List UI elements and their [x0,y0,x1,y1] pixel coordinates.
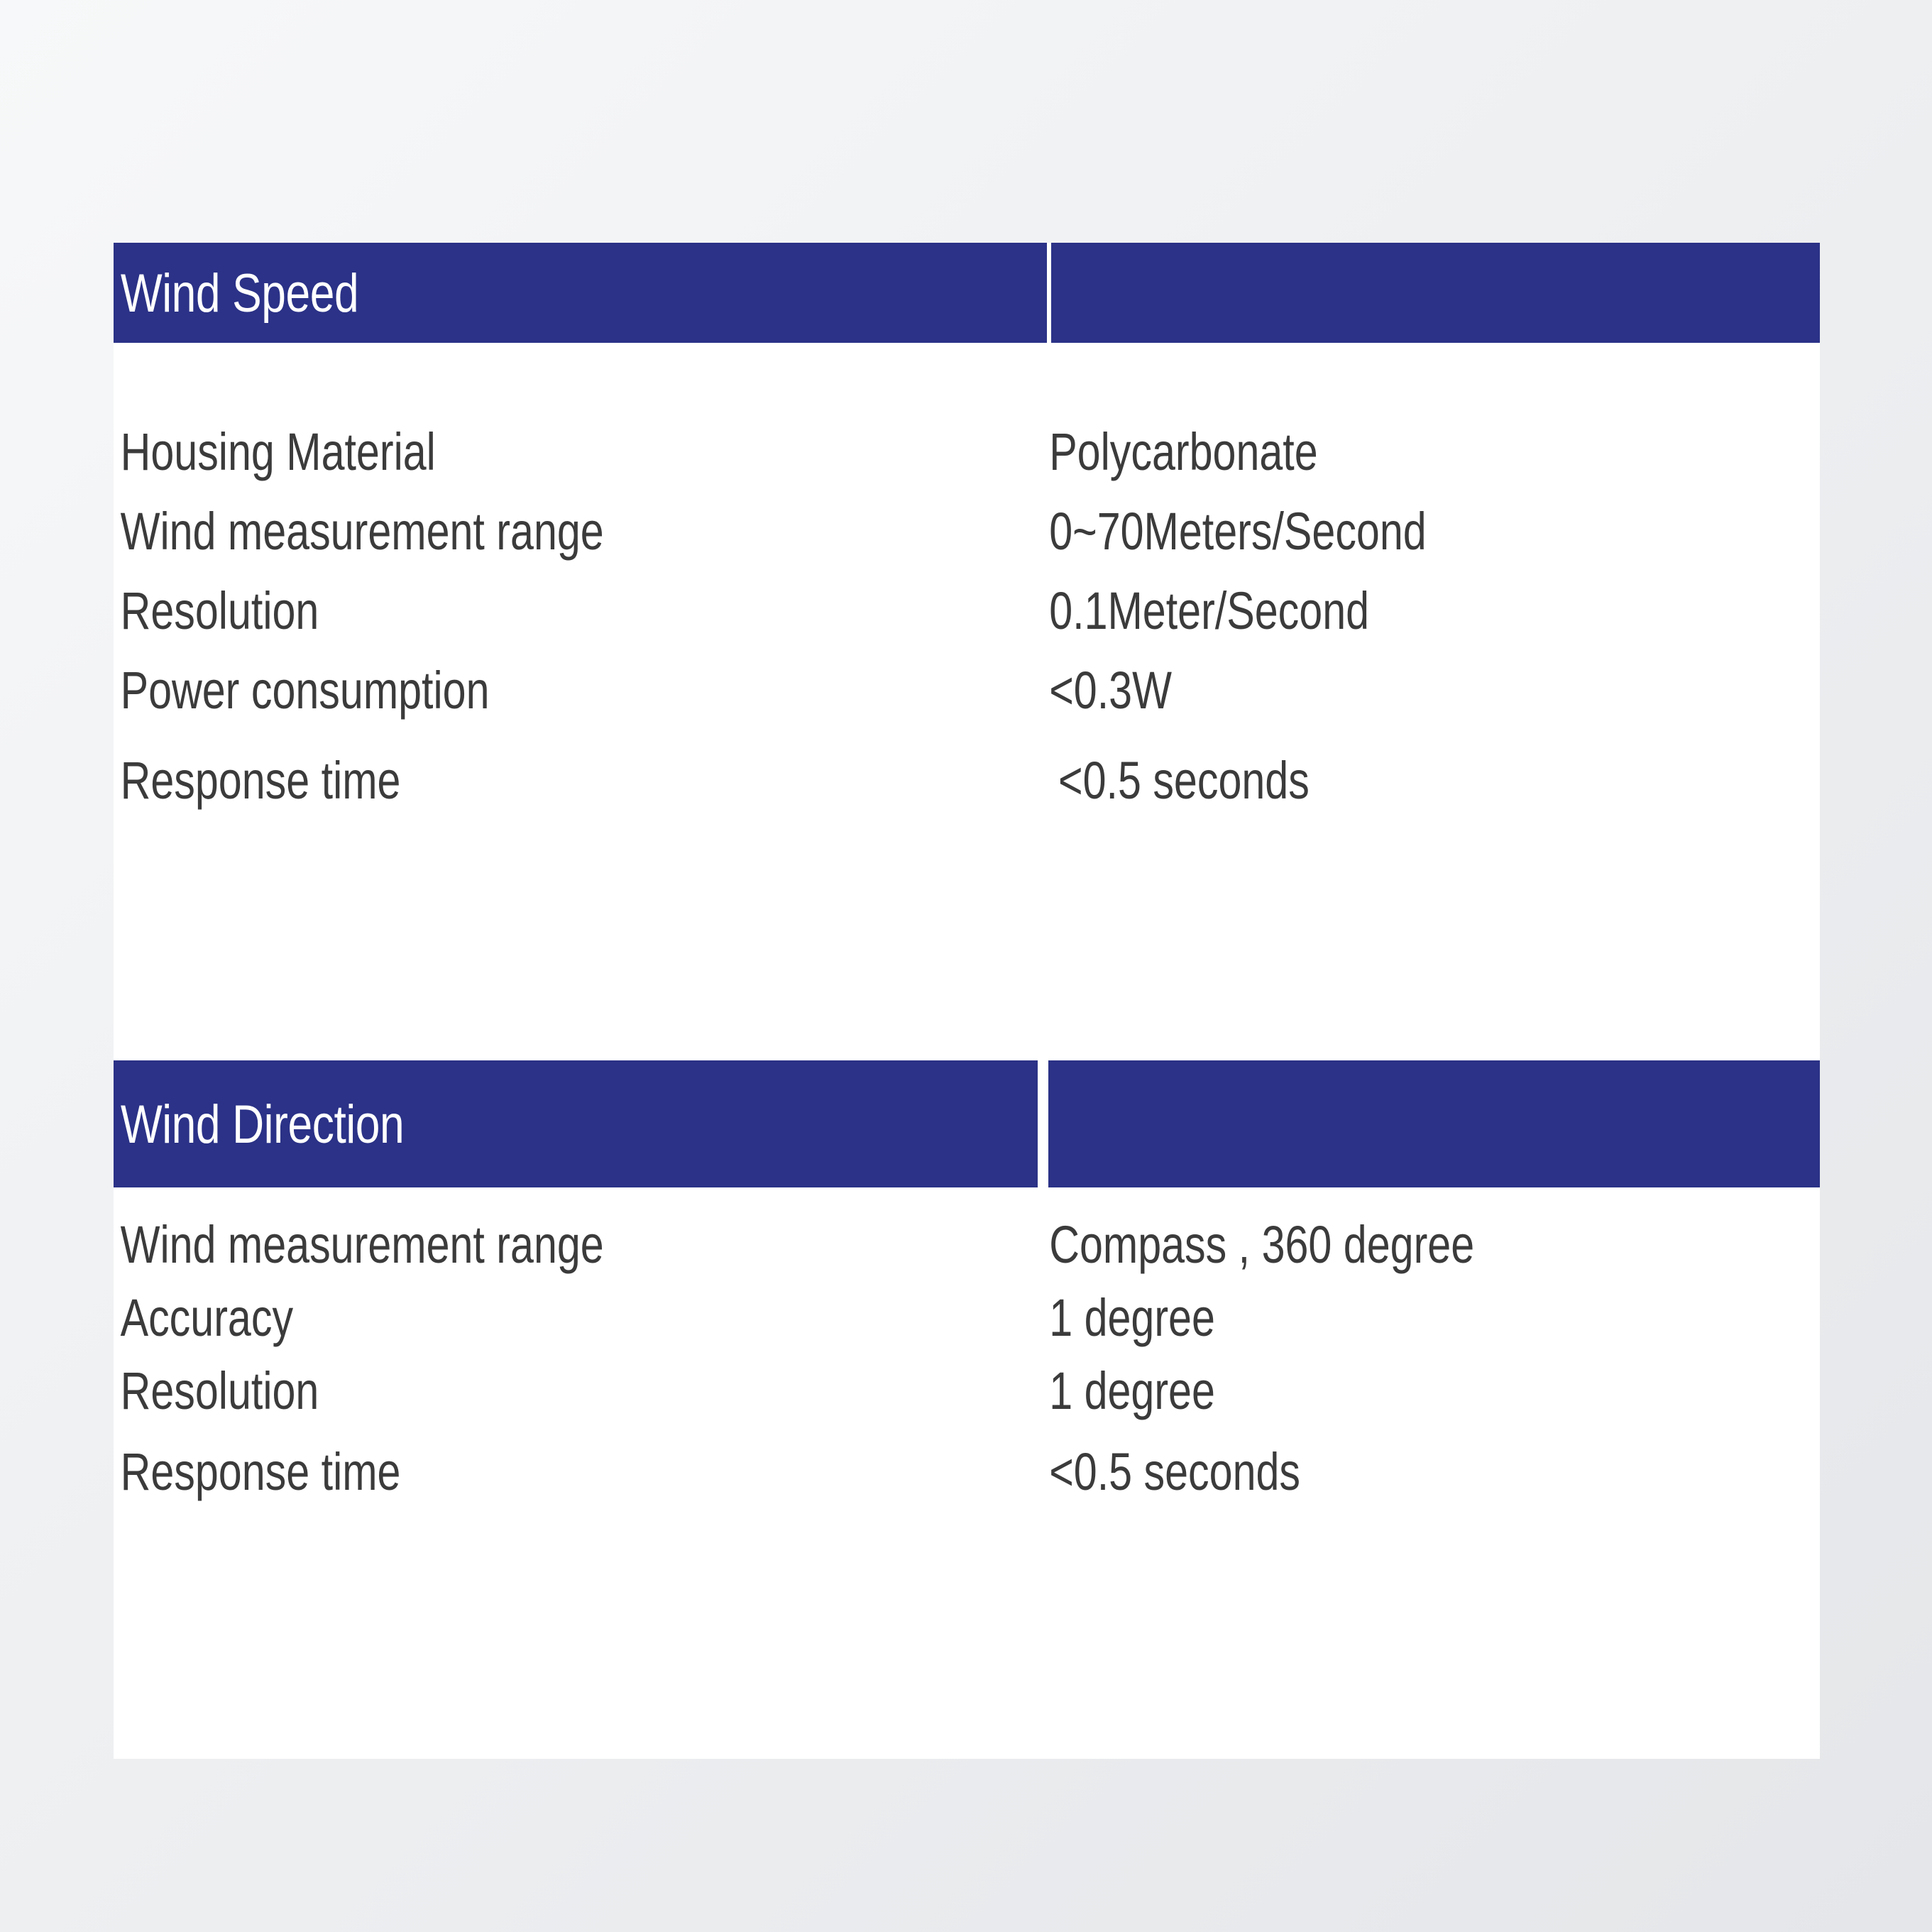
spec-label: Resolution [114,1368,860,1414]
section-title-wind-direction: Wind Direction [114,1098,404,1152]
section-header-wind-direction: Wind Direction [114,1060,1820,1187]
table-row: Wind measurement range Compass , 360 deg… [114,1222,1820,1268]
spec-value: 1 degree [1047,1295,1665,1341]
section-header-right-cell [1051,243,1820,343]
specification-table-card: Wind Speed Housing Material Polycarbonat… [114,243,1820,1759]
spec-label: Power consumption [114,668,860,713]
table-row: Resolution 0.1Meter/Second [114,588,1820,634]
table-row: Wind measurement range 0~70Meters/Second [114,509,1820,554]
table-row: Accuracy 1 degree [114,1295,1820,1341]
section-header-wind-speed: Wind Speed [114,243,1820,343]
table-row: Housing Material Polycarbonate [114,429,1820,475]
spec-label: Accuracy [114,1295,860,1341]
section-header-left-cell: Wind Direction [114,1060,1038,1187]
spec-value: <0.3W [1047,668,1665,713]
table-row: Power consumption <0.3W [114,668,1820,713]
spec-value: <0.5 seconds [1047,1449,1665,1495]
section-header-left-cell: Wind Speed [114,243,1047,343]
spec-value: 0.1Meter/Second [1047,588,1665,634]
section-header-right-cell [1048,1060,1820,1187]
spec-value: 0~70Meters/Second [1047,509,1665,554]
spec-value: Polycarbonate [1047,429,1665,475]
spec-label: Wind measurement range [114,1222,860,1268]
spec-label: Response time [114,758,860,803]
spec-label: Housing Material [114,429,860,475]
table-row: Response time <0.5 seconds [114,1449,1820,1495]
spec-label: Wind measurement range [114,509,860,554]
table-row: Response time <0.5 seconds [114,758,1820,803]
spec-label: Response time [114,1449,860,1495]
spec-value: <0.5 seconds [1047,758,1665,803]
table-row: Resolution 1 degree [114,1368,1820,1414]
spec-label: Resolution [114,588,860,634]
spec-value: 1 degree [1047,1368,1665,1414]
spec-value: Compass , 360 degree [1047,1222,1665,1268]
section-title-wind-speed: Wind Speed [114,267,358,321]
section-header-column-divider [1038,1060,1048,1187]
